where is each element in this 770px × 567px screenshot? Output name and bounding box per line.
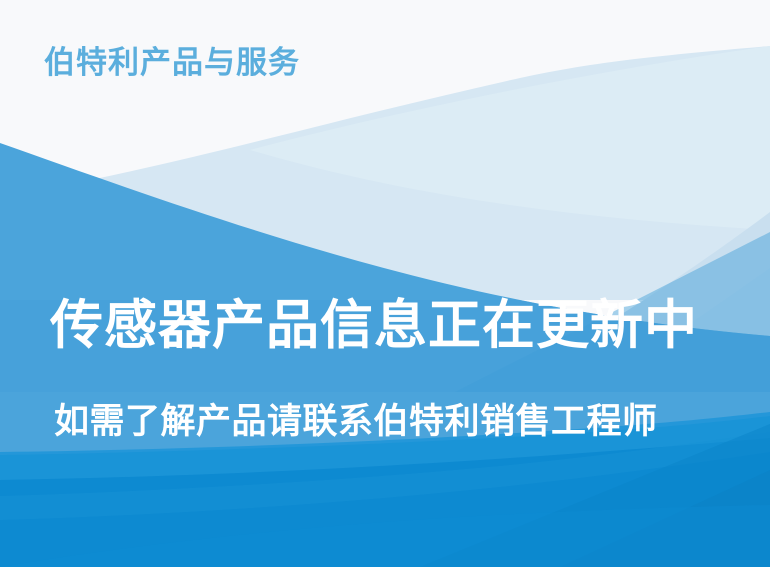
main-headline: 传感器产品信息正在更新中 xyxy=(50,296,698,355)
page-title: 伯特利产品与服务 xyxy=(44,46,300,80)
text-layer: 伯特利产品与服务 传感器产品信息正在更新中 如需了解产品请联系伯特利销售工程师 xyxy=(0,0,770,567)
product-banner: 伯特利产品与服务 传感器产品信息正在更新中 如需了解产品请联系伯特利销售工程师 xyxy=(0,0,770,567)
sub-headline: 如需了解产品请联系伯特利销售工程师 xyxy=(54,402,658,442)
